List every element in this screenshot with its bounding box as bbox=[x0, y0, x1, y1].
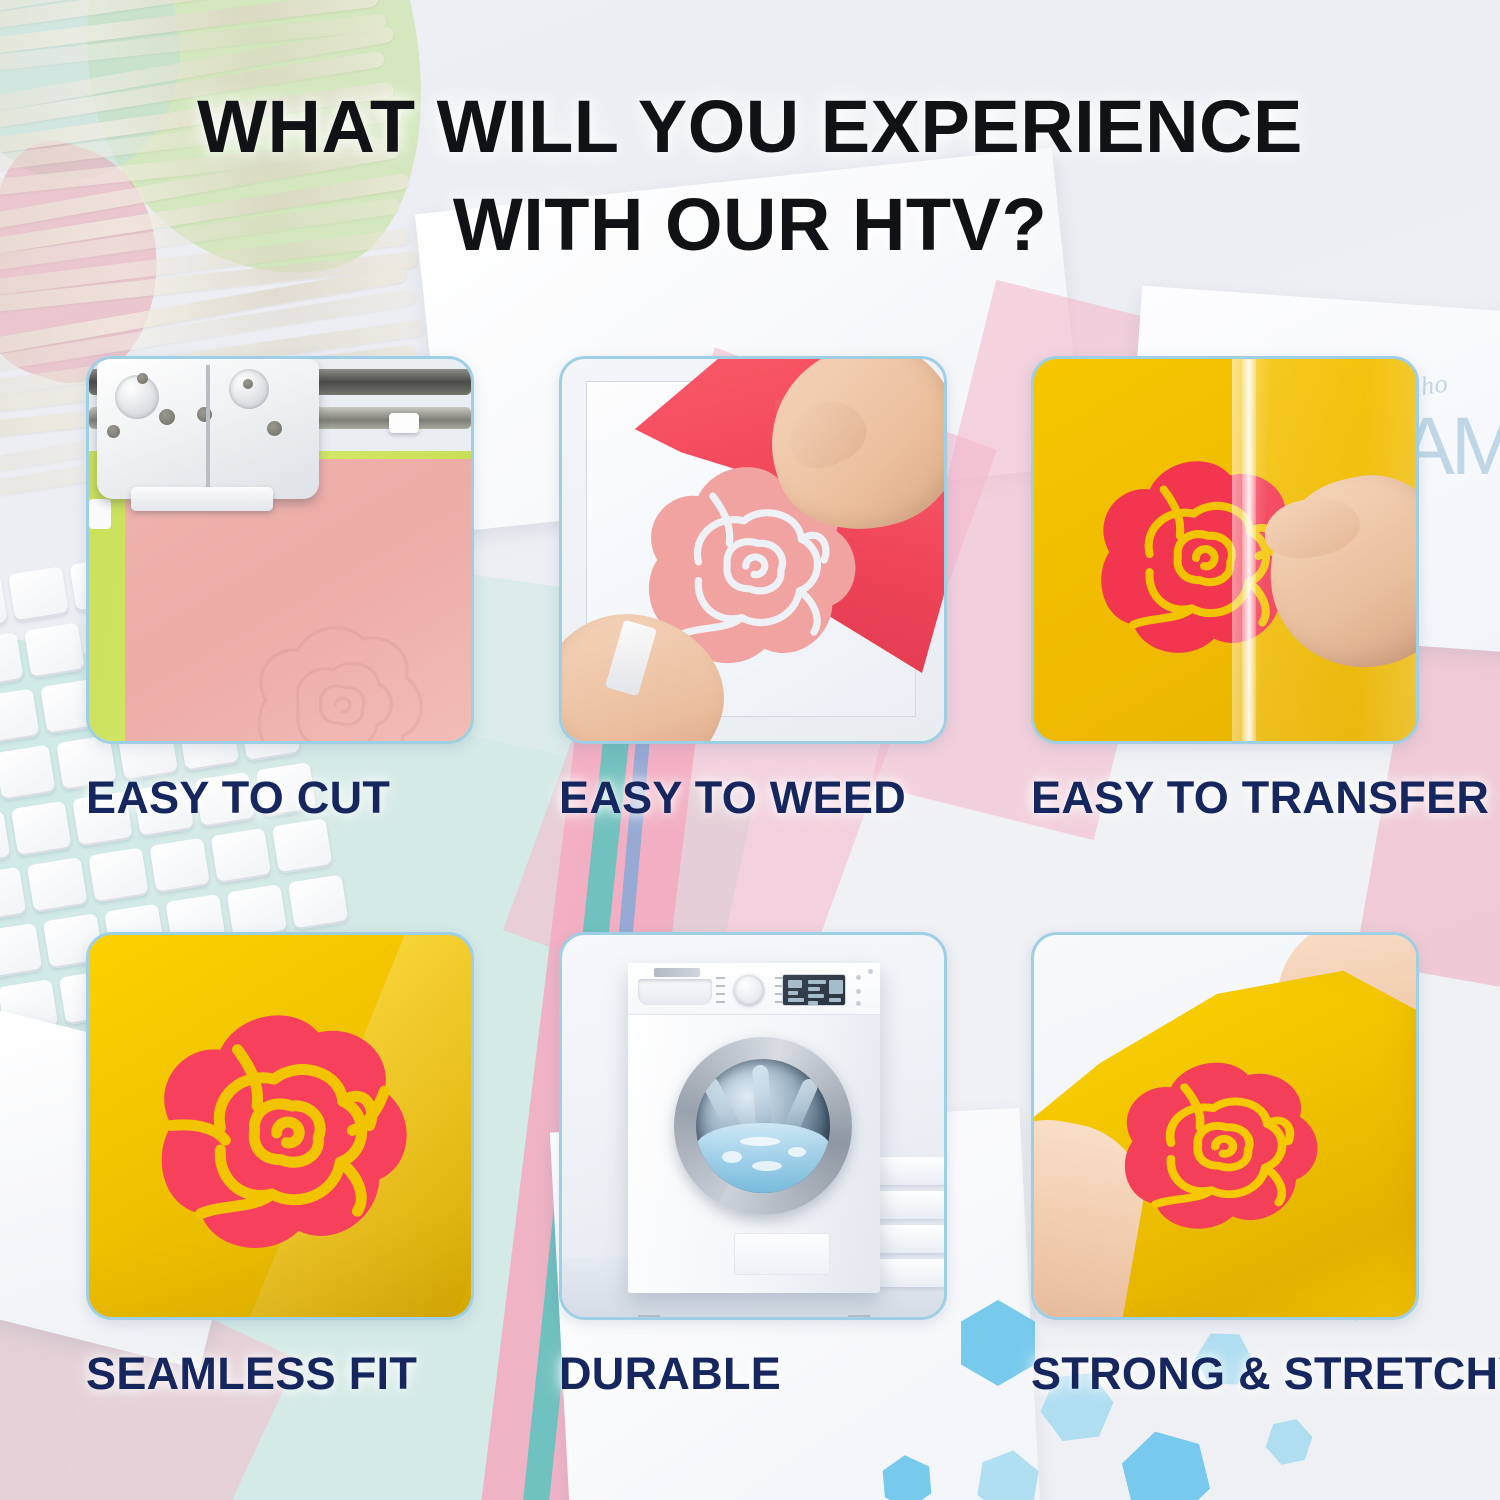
rail-clip bbox=[389, 413, 419, 433]
detergent-drawer bbox=[638, 979, 712, 1005]
stretch-fabric-icon bbox=[1031, 932, 1419, 1320]
washer-button-3[interactable] bbox=[856, 1001, 861, 1006]
suds-3 bbox=[788, 1147, 806, 1157]
carriage-screw-3 bbox=[197, 407, 212, 422]
rose-silhouette bbox=[119, 969, 449, 1287]
infographic-content: WHAT WILL YOU EXPERIENCE WITH OUR HTV? bbox=[0, 0, 1500, 1500]
carriage-screw-1 bbox=[107, 425, 120, 438]
transfer-peel-icon bbox=[1031, 356, 1419, 744]
drum-fin-2 bbox=[752, 1065, 772, 1128]
carriage-screw-6 bbox=[243, 379, 253, 389]
weeding-hands-icon bbox=[559, 356, 947, 744]
cutting-carriage bbox=[97, 359, 319, 499]
carriage-foot bbox=[131, 487, 273, 511]
display-segment bbox=[788, 980, 802, 988]
suds-1 bbox=[722, 1151, 742, 1163]
carriage-screw-2 bbox=[159, 409, 175, 425]
fabric-rose-icon bbox=[86, 932, 474, 1320]
washer-control-panel bbox=[628, 963, 880, 1015]
display-segment bbox=[829, 980, 843, 994]
display-segment bbox=[808, 994, 824, 998]
washer-door-glass bbox=[696, 1059, 830, 1193]
display-segment bbox=[788, 998, 804, 1002]
transfer-film-edge bbox=[1242, 359, 1256, 741]
washer-button-1[interactable] bbox=[856, 975, 861, 980]
display-segment bbox=[829, 998, 841, 1002]
filter-access-hatch bbox=[734, 1233, 830, 1275]
display-segment bbox=[808, 980, 826, 984]
tick bbox=[716, 985, 725, 987]
washer-brand-logo bbox=[654, 968, 700, 977]
tick bbox=[716, 977, 725, 979]
cutting-machine-icon bbox=[86, 356, 474, 744]
washer-display bbox=[782, 974, 846, 1006]
tick bbox=[716, 1001, 725, 1003]
embossed-rose-outline bbox=[235, 587, 445, 744]
washing-machine-icon bbox=[559, 932, 947, 1320]
suds-2 bbox=[752, 1161, 782, 1171]
carriage-screw-5 bbox=[137, 373, 148, 384]
carriage-knob-right bbox=[229, 369, 269, 409]
rose-silhouette bbox=[1096, 1043, 1346, 1261]
washer-button-2[interactable] bbox=[856, 989, 861, 994]
red-rose-design bbox=[119, 969, 449, 1287]
mat-roller bbox=[89, 499, 111, 529]
feature-grid: EASY TO CUT bbox=[0, 0, 1500, 1500]
suds-4 bbox=[740, 1137, 780, 1146]
red-rose-design bbox=[1096, 1043, 1346, 1261]
tick bbox=[716, 993, 725, 995]
washer-button-4[interactable] bbox=[868, 969, 873, 974]
drum-water bbox=[696, 1123, 830, 1193]
display-segment bbox=[808, 1001, 818, 1005]
washer-body bbox=[628, 963, 880, 1293]
display-segment bbox=[788, 991, 798, 995]
display-segment bbox=[808, 987, 820, 991]
carriage-screw-4 bbox=[267, 421, 282, 436]
program-selector-dial[interactable] bbox=[734, 975, 764, 1005]
washer-legs bbox=[638, 1315, 870, 1320]
washer-door-ring bbox=[674, 1037, 852, 1215]
